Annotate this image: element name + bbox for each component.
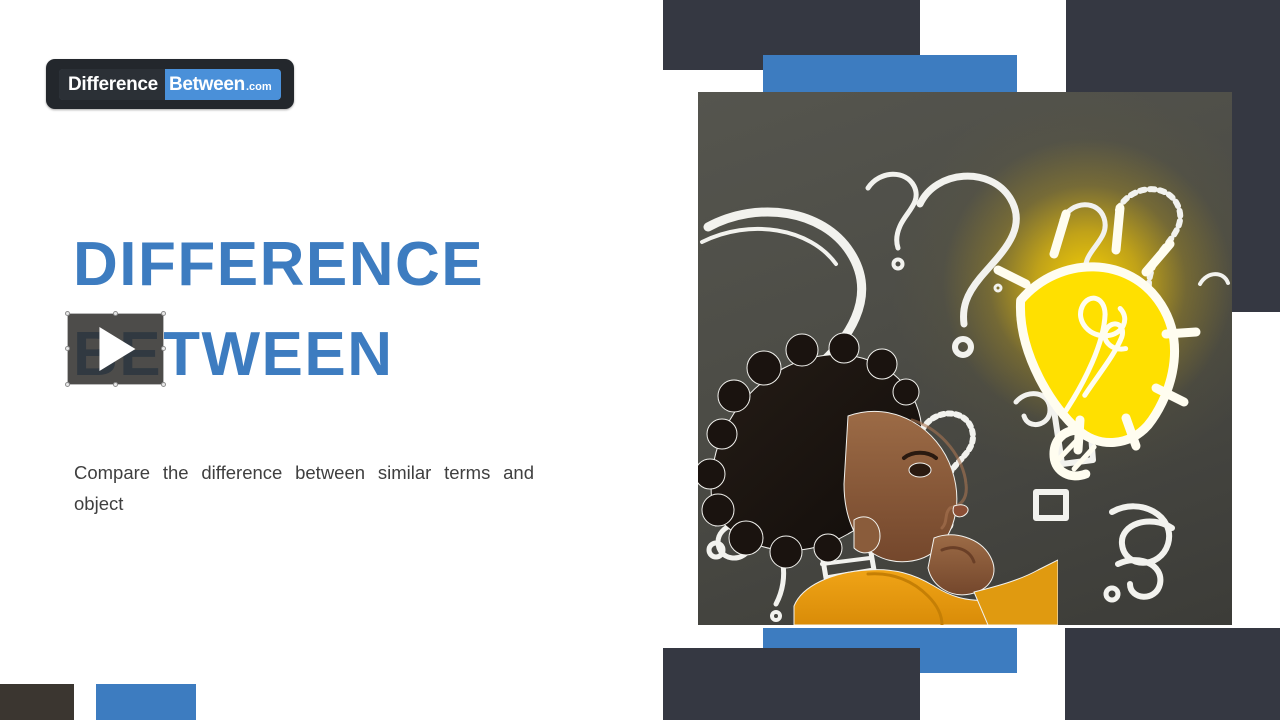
- resize-handle-w[interactable]: [65, 346, 70, 351]
- logo-word-difference: Difference: [59, 69, 165, 100]
- resize-handle-sw[interactable]: [65, 382, 70, 387]
- decoration-block-bottom-left-brown: [0, 684, 74, 720]
- resize-handle-e[interactable]: [161, 346, 166, 351]
- video-play-button[interactable]: [67, 313, 164, 385]
- title-line-1: DIFFERENCE: [73, 220, 633, 310]
- resize-handle-se[interactable]: [161, 382, 166, 387]
- resize-handle-n[interactable]: [113, 311, 118, 316]
- decoration-block-bottom-dark: [663, 648, 920, 720]
- presentation-slide: Difference Between .com DIFFERENCE BETWE…: [0, 0, 1280, 720]
- hero-photo: [698, 92, 1232, 625]
- decoration-block-bottom-left-blue: [96, 684, 196, 720]
- resize-handle-nw[interactable]: [65, 311, 70, 316]
- difference-between-logo[interactable]: Difference Between .com: [46, 59, 294, 109]
- resize-handle-s[interactable]: [113, 382, 118, 387]
- play-triangle-icon: [99, 327, 135, 371]
- child-photo-subject: [698, 324, 1058, 625]
- logo-inner-frame: Difference Between .com: [59, 69, 281, 100]
- decoration-block-top-blue: [763, 55, 1017, 92]
- slide-subtitle: Compare the difference between similar t…: [74, 457, 534, 519]
- logo-tld-text: .com: [246, 72, 272, 100]
- resize-handle-ne[interactable]: [161, 311, 166, 316]
- decoration-block-bottom-right-dark: [1065, 628, 1280, 720]
- logo-between-text: Between: [169, 69, 245, 100]
- logo-word-between: Between .com: [165, 69, 281, 100]
